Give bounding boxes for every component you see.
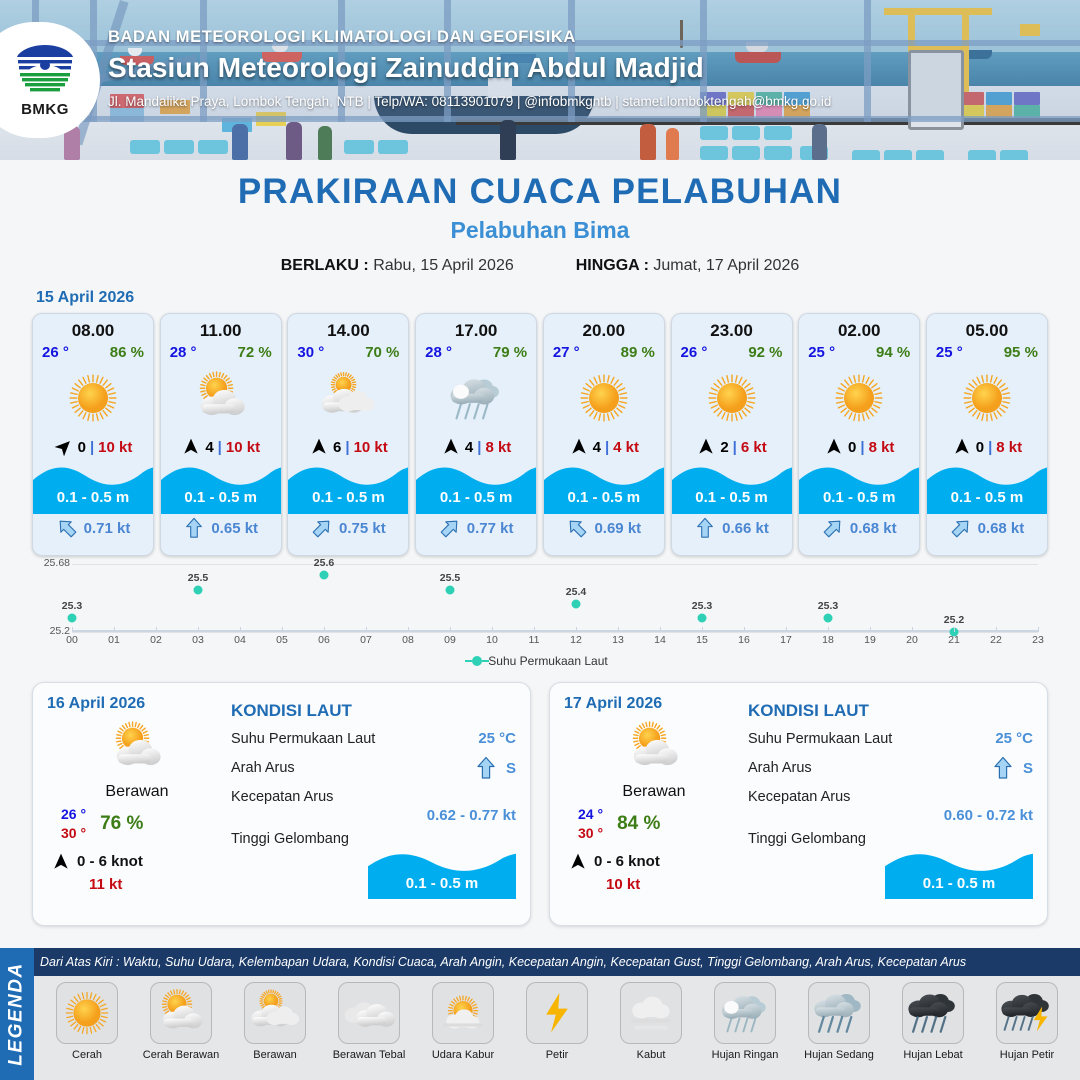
card-temperature: 26 ° [681, 344, 708, 361]
card-temperature: 26 ° [42, 344, 69, 361]
card-wind-speed: 4 kt [613, 439, 639, 456]
card-temperature: 27 ° [553, 344, 580, 361]
card-separator: | [733, 439, 737, 456]
card-wind-speed: 8 kt [996, 439, 1022, 456]
legend-cerah-icon [56, 982, 118, 1044]
daily-wind-range: 0 - 6 knot [594, 853, 660, 870]
legend-bar: LEGENDA Dari Atas Kiri : Waktu, Suhu Uda… [0, 948, 1080, 1080]
daily-wind-row: 0 - 6 knot [564, 852, 744, 872]
daily-temp-min: 24 ° [578, 805, 603, 824]
card-separator: | [605, 439, 609, 456]
chart-tick-mark [912, 627, 913, 632]
card-humidity: 95 % [1004, 344, 1038, 361]
chart-tick-mark [954, 627, 955, 632]
current-direction-value-group: S [474, 756, 516, 780]
legend-item: Berawan Tebal [322, 982, 416, 1080]
chart-x-tick: 15 [696, 634, 708, 646]
chart-legend-label: Suhu Permukaan Laut [488, 654, 607, 668]
chart-tick-mark [324, 627, 325, 632]
card-current-row: 0.66 kt [672, 517, 792, 539]
forecast-date-label: 15 April 2026 [36, 289, 1080, 307]
chart-tick-mark [828, 627, 829, 632]
legend-item: Petir [510, 982, 604, 1080]
forecast-card: 17.00 28 ° 79 % 4 | 8 [415, 313, 537, 556]
card-separator: | [345, 439, 349, 456]
card-wind-speed: 6 kt [741, 439, 767, 456]
sst-value: 25 °C [995, 730, 1033, 747]
card-wave-block: 0.1 - 0.5 m [288, 462, 408, 514]
card-wave-height: 0.1 - 0.5 m [161, 489, 281, 506]
chart-x-tick: 04 [234, 634, 246, 646]
card-current-row: 0.68 kt [799, 517, 919, 539]
card-temp-hum-row: 26 ° 86 % [33, 341, 153, 361]
legend-hujan-sedang-icon [808, 982, 870, 1044]
card-wave-height: 0.1 - 0.5 m [288, 489, 408, 506]
hourly-forecast-row: 08.00 26 ° 86 % 0 | 10 kt 0.1 - 0.5 m [0, 313, 1080, 556]
person-illustration [232, 124, 248, 160]
wave-height-label: Tinggi Gelombang [231, 831, 516, 847]
current-direction-value-group: S [991, 756, 1033, 780]
chart-tick-mark [492, 627, 493, 632]
daily-gust-speed: 10 kt [564, 876, 744, 893]
card-wave-block: 0.1 - 0.5 m [544, 462, 664, 514]
legend-item: Hujan Lebat [886, 982, 980, 1080]
sst-value: 25 °C [478, 730, 516, 747]
waiting-chair [700, 126, 728, 140]
chart-data-point [320, 571, 329, 580]
header-text-block: BADAN METEOROLOGI KLIMATOLOGI DAN GEOFIS… [108, 28, 831, 109]
chart-point-label: 25.5 [188, 572, 208, 584]
legend-item: Udara Kabur [416, 982, 510, 1080]
card-wind-speed: 8 kt [485, 439, 511, 456]
daily-forecast-row: 16 April 2026 Berawan 26 ° 30 ° 76 % [0, 682, 1080, 926]
daily-forecast-panel: 17 April 2026 Berawan 24 ° 30 ° 84 % [549, 682, 1048, 926]
wave-shape-icon [544, 462, 664, 514]
current-speed-value: 0.62 - 0.77 kt [231, 807, 516, 824]
current-direction-label: Arah Arus [748, 760, 812, 776]
forecast-card: 23.00 26 ° 92 % 2 | 6 kt 0.1 - 0.5 m [671, 313, 793, 556]
waiting-chair [198, 140, 228, 154]
card-wind-row: 4 | 10 kt [161, 437, 281, 457]
chart-x-tick: 13 [612, 634, 624, 646]
card-humidity: 89 % [621, 344, 655, 361]
legend-berawan-icon [244, 982, 306, 1044]
card-separator: | [860, 439, 864, 456]
waiting-chair [764, 146, 792, 160]
sst-label: Suhu Permukaan Laut [231, 731, 375, 747]
card-weather-cerah-icon [799, 363, 919, 433]
legend-udara-kabur-icon [432, 982, 494, 1044]
legend-item-label: Berawan [253, 1049, 296, 1061]
chart-x-tick: 07 [360, 634, 372, 646]
card-temp-hum-row: 28 ° 79 % [416, 341, 536, 361]
current-direction-arrow-icon [474, 756, 498, 780]
daily-wind-range: 0 - 6 knot [77, 853, 143, 870]
chart-tick-mark [156, 627, 157, 632]
card-weather-cerah-icon [544, 363, 664, 433]
card-weather-cerah-berawan-icon [161, 363, 281, 433]
sst-row: Suhu Permukaan Laut 25 °C [231, 730, 516, 747]
card-separator: | [90, 439, 94, 456]
chart-tick-mark [576, 627, 577, 632]
daily-weather-cerah-berawan-icon [564, 717, 744, 779]
card-wind-row: 0 | 10 kt [33, 437, 153, 457]
card-wind-speed: 10 kt [98, 439, 132, 456]
valid-until-label: HINGGA : [576, 257, 649, 274]
waiting-chair [732, 126, 760, 140]
card-temperature: 25 ° [808, 344, 835, 361]
daily-left-column: 16 April 2026 Berawan 26 ° 30 ° 76 % [47, 695, 227, 913]
chart-data-point [572, 599, 581, 608]
wind-direction-arrow-icon [696, 437, 716, 457]
legend-berawan-tebal-icon [338, 982, 400, 1044]
card-weather-hujan-ringan-icon [416, 363, 536, 433]
legend-items-row: Cerah Cerah Berawan [34, 976, 1080, 1080]
legend-item: Hujan Ringan [698, 982, 792, 1080]
waiting-chair [344, 140, 374, 154]
card-separator: | [218, 439, 222, 456]
current-direction-arrow-icon [311, 517, 333, 539]
chart-legend-marker-icon [472, 656, 482, 666]
card-weather-cerah-icon [33, 363, 153, 433]
card-wind-direction: 0 [848, 439, 856, 456]
current-direction-arrow-icon [439, 517, 461, 539]
daily-date: 17 April 2026 [564, 695, 744, 713]
card-weather-berawan-icon [288, 363, 408, 433]
card-wind-speed: 10 kt [354, 439, 388, 456]
daily-wind-row: 0 - 6 knot [47, 852, 227, 872]
forecast-card: 02.00 25 ° 94 % 0 | 8 kt 0.1 - 0.5 m [798, 313, 920, 556]
current-direction-arrow-icon [950, 517, 972, 539]
daily-temp-max: 30 ° [578, 824, 603, 843]
waiting-chair [130, 140, 160, 154]
wind-direction-arrow-icon [952, 437, 972, 457]
current-direction-arrow-icon [822, 517, 844, 539]
legend-hujan-lebat-icon [902, 982, 964, 1044]
card-time: 02.00 [799, 321, 919, 341]
current-speed-block: Kecepatan Arus 0.62 - 0.77 kt [231, 789, 516, 824]
chart-x-tick: 12 [570, 634, 582, 646]
card-temperature: 25 ° [936, 344, 963, 361]
wave-height-label: Tinggi Gelombang [748, 831, 1033, 847]
daily-condition: Berawan [564, 783, 744, 801]
card-wind-speed: 8 kt [869, 439, 895, 456]
bmkg-logo-mark [14, 43, 76, 99]
person-illustration [640, 124, 656, 160]
wave-shape-icon [799, 462, 919, 514]
forecast-card: 14.00 30 ° 70 % 6 | 1 [287, 313, 409, 556]
card-weather-cerah-icon [927, 363, 1047, 433]
chart-x-tick: 16 [738, 634, 750, 646]
chart-x-tick: 20 [906, 634, 918, 646]
card-wave-block: 0.1 - 0.5 m [33, 462, 153, 514]
chart-plot-area: 25.6825.225.325.525.625.525.425.325.325.… [72, 564, 1038, 632]
card-current-row: 0.77 kt [416, 517, 536, 539]
current-direction-arrow-icon [183, 517, 205, 539]
chart-tick-mark [870, 627, 871, 632]
chart-x-tick: 01 [108, 634, 120, 646]
forecast-card: 20.00 27 ° 89 % 4 | 4 kt 0.1 - 0.5 m [543, 313, 665, 556]
person-illustration [812, 124, 827, 160]
card-temperature: 30 ° [297, 344, 324, 361]
card-current-speed: 0.71 kt [84, 520, 131, 537]
card-wind-row: 0 | 8 kt [799, 437, 919, 457]
wind-direction-arrow-icon [824, 437, 844, 457]
legend-item-label: Cerah Berawan [143, 1049, 219, 1061]
wave-height-value: 0.1 - 0.5 m [368, 875, 516, 892]
waiting-chair [164, 140, 194, 154]
card-current-row: 0.75 kt [288, 517, 408, 539]
legend-item-label: Hujan Lebat [903, 1049, 962, 1061]
chart-tick-mark [744, 627, 745, 632]
current-direction-value: S [1023, 760, 1033, 777]
chart-data-point [698, 613, 707, 622]
waiting-chair [378, 140, 408, 154]
legend-item: Cerah Berawan [134, 982, 228, 1080]
card-temp-hum-row: 26 ° 92 % [672, 341, 792, 361]
card-humidity: 86 % [110, 344, 144, 361]
chart-tick-mark [114, 627, 115, 632]
legend-side-label: LEGENDA [6, 962, 28, 1065]
waiting-chair [884, 150, 912, 160]
chart-tick-mark [72, 627, 73, 632]
chart-tick-mark [534, 627, 535, 632]
legend-cerah-berawan-icon [150, 982, 212, 1044]
chart-point-label: 25.3 [62, 600, 82, 612]
daily-humidity: 84 % [617, 813, 660, 835]
bmkg-logo-label: BMKG [21, 101, 69, 118]
daily-temp-min: 26 ° [61, 805, 86, 824]
daily-temp-column: 26 ° 30 ° [61, 805, 86, 843]
chart-x-tick: 03 [192, 634, 204, 646]
wind-direction-arrow-icon [309, 437, 329, 457]
person-illustration [286, 122, 302, 160]
card-wave-height: 0.1 - 0.5 m [544, 489, 664, 506]
chart-y-tick: 25.2 [34, 625, 70, 637]
daily-gust-speed: 11 kt [47, 876, 227, 893]
chart-x-tick: 17 [780, 634, 792, 646]
chart-x-tick: 09 [444, 634, 456, 646]
card-time: 11.00 [161, 321, 281, 341]
card-wave-block: 0.1 - 0.5 m [416, 462, 536, 514]
card-temp-hum-row: 25 ° 95 % [927, 341, 1047, 361]
legend-hujan-petir-icon [996, 982, 1058, 1044]
chart-tick-mark [450, 627, 451, 632]
card-current-speed: 0.66 kt [722, 520, 769, 537]
waiting-chair [916, 150, 944, 160]
forecast-card: 05.00 25 ° 95 % 0 | 8 kt 0.1 - 0.5 m [926, 313, 1048, 556]
card-current-row: 0.65 kt [161, 517, 281, 539]
chart-data-point [446, 585, 455, 594]
card-humidity: 92 % [748, 344, 782, 361]
card-current-row: 0.68 kt [927, 517, 1047, 539]
current-direction-arrow-icon [56, 517, 78, 539]
chart-x-tick: 21 [948, 634, 960, 646]
valid-from: BERLAKU : Rabu, 15 April 2026 [281, 257, 514, 275]
card-current-speed: 0.65 kt [211, 520, 258, 537]
legend-item-label: Kabut [637, 1049, 666, 1061]
wind-direction-arrow-icon [51, 852, 71, 872]
wave-shape-icon [672, 462, 792, 514]
card-current-speed: 0.75 kt [339, 520, 386, 537]
daily-humidity: 76 % [100, 813, 143, 835]
card-wind-row: 4 | 8 kt [416, 437, 536, 457]
wave-shape-icon [288, 462, 408, 514]
card-wind-direction: 4 [593, 439, 601, 456]
page-header: BMKG BADAN METEOROLOGI KLIMATOLOGI DAN G… [0, 0, 1080, 160]
waiting-chair [764, 126, 792, 140]
title-block: PRAKIRAAN CUACA PELABUHAN Pelabuhan Bima… [0, 160, 1080, 275]
person-illustration [666, 128, 679, 160]
person-illustration [318, 126, 332, 160]
chart-legend: Suhu Permukaan Laut [36, 654, 1044, 668]
daily-forecast-panel: 16 April 2026 Berawan 26 ° 30 ° 76 % [32, 682, 531, 926]
card-wave-height: 0.1 - 0.5 m [672, 489, 792, 506]
chart-y-tick: 25.68 [34, 557, 70, 569]
wind-direction-arrow-icon [569, 437, 589, 457]
card-time: 05.00 [927, 321, 1047, 341]
waiting-chair [732, 146, 760, 160]
daily-temp-max: 30 ° [61, 824, 86, 843]
card-wave-height: 0.1 - 0.5 m [416, 489, 536, 506]
contact-line: Jl. Mandalika Praya, Lombok Tengah, NTB … [108, 94, 831, 109]
card-wind-direction: 2 [720, 439, 728, 456]
current-speed-block: Kecepatan Arus 0.60 - 0.72 kt [748, 789, 1033, 824]
forecast-card: 11.00 28 ° 72 % 4 | 10 kt [160, 313, 282, 556]
sea-conditions-title: KONDISI LAUT [748, 701, 1033, 721]
chart-tick-mark [282, 627, 283, 632]
legend-item: Hujan Sedang [792, 982, 886, 1080]
current-direction-row: Arah Arus S [231, 756, 516, 780]
chart-x-tick: 00 [66, 634, 78, 646]
card-wind-row: 4 | 4 kt [544, 437, 664, 457]
card-wind-direction: 4 [465, 439, 473, 456]
legend-note: Dari Atas Kiri : Waktu, Suhu Udara, Kele… [40, 955, 966, 969]
chart-x-tick: 08 [402, 634, 414, 646]
page-subtitle: Pelabuhan Bima [0, 217, 1080, 244]
chart-tick-mark [198, 627, 199, 632]
daily-temp-hum-row: 26 ° 30 ° 76 % [47, 805, 227, 843]
daily-sea-column: KONDISI LAUT Suhu Permukaan Laut 25 °C A… [227, 695, 516, 913]
waiting-chair [700, 146, 728, 160]
card-time: 23.00 [672, 321, 792, 341]
legend-item: Kabut [604, 982, 698, 1080]
card-current-row: 0.71 kt [33, 517, 153, 539]
chart-x-tick: 19 [864, 634, 876, 646]
card-current-speed: 0.68 kt [978, 520, 1025, 537]
waiting-chair [968, 150, 996, 160]
card-time: 20.00 [544, 321, 664, 341]
wind-direction-arrow-icon [441, 437, 461, 457]
wave-shape-icon: 0.1 - 0.5 m [368, 849, 516, 899]
legend-item: Hujan Petir [980, 982, 1074, 1080]
chart-x-tick: 02 [150, 634, 162, 646]
validity-row: BERLAKU : Rabu, 15 April 2026 HINGGA : J… [0, 257, 1080, 275]
wave-height-value: 0.1 - 0.5 m [885, 875, 1033, 892]
daily-date: 16 April 2026 [47, 695, 227, 713]
valid-from-value: Rabu, 15 April 2026 [373, 257, 514, 274]
card-humidity: 72 % [238, 344, 272, 361]
chart-tick-mark [366, 627, 367, 632]
card-wind-speed: 10 kt [226, 439, 260, 456]
current-direction-row: Arah Arus S [748, 756, 1033, 780]
chart-tick-mark [1038, 627, 1039, 632]
current-direction-arrow-icon [991, 756, 1015, 780]
legend-item-label: Hujan Petir [1000, 1049, 1054, 1061]
current-speed-value: 0.60 - 0.72 kt [748, 807, 1033, 824]
station-name: Stasiun Meteorologi Zainuddin Abdul Madj… [108, 52, 831, 84]
daily-sea-column: KONDISI LAUT Suhu Permukaan Laut 25 °C A… [744, 695, 1033, 913]
daily-temp-hum-row: 24 ° 30 ° 84 % [564, 805, 744, 843]
chart-x-tick: 14 [654, 634, 666, 646]
card-temp-hum-row: 25 ° 94 % [799, 341, 919, 361]
valid-from-label: BERLAKU : [281, 257, 369, 274]
valid-until-value: Jumat, 17 April 2026 [653, 257, 799, 274]
chart-tick-mark [786, 627, 787, 632]
daily-weather-cerah-berawan-icon [47, 717, 227, 779]
waiting-chair [1000, 150, 1028, 160]
chart-point-label: 25.4 [566, 586, 586, 598]
legend-kabut-icon [620, 982, 682, 1044]
chart-x-tick: 10 [486, 634, 498, 646]
card-wind-direction: 4 [205, 439, 213, 456]
chart-x-tick: 23 [1032, 634, 1044, 646]
card-current-speed: 0.69 kt [594, 520, 641, 537]
current-direction-arrow-icon [566, 517, 588, 539]
chart-point-label: 25.6 [314, 557, 334, 569]
card-separator: | [477, 439, 481, 456]
current-speed-label: Kecepatan Arus [231, 789, 516, 805]
card-wind-row: 0 | 8 kt [927, 437, 1047, 457]
forecast-card: 08.00 26 ° 86 % 0 | 10 kt 0.1 - 0.5 m [32, 313, 154, 556]
legend-item: Cerah [40, 982, 134, 1080]
chart-data-point [68, 613, 77, 622]
card-time: 17.00 [416, 321, 536, 341]
chart-tick-mark [408, 627, 409, 632]
chart-tick-mark [996, 627, 997, 632]
card-current-row: 0.69 kt [544, 517, 664, 539]
card-temp-hum-row: 27 ° 89 % [544, 341, 664, 361]
sea-conditions-title: KONDISI LAUT [231, 701, 516, 721]
sst-chart: 25.6825.225.325.525.625.525.425.325.325.… [36, 564, 1044, 676]
card-wave-block: 0.1 - 0.5 m [161, 462, 281, 514]
wave-shape-icon: 0.1 - 0.5 m [885, 849, 1033, 899]
card-separator: | [988, 439, 992, 456]
agency-name: BADAN METEOROLOGI KLIMATOLOGI DAN GEOFIS… [108, 28, 831, 47]
chart-x-axis: 0001020304050607080910111213141516171819… [72, 632, 1038, 650]
card-wave-height: 0.1 - 0.5 m [927, 489, 1047, 506]
card-temp-hum-row: 30 ° 70 % [288, 341, 408, 361]
card-wave-block: 0.1 - 0.5 m [927, 462, 1047, 514]
daily-condition: Berawan [47, 783, 227, 801]
card-current-speed: 0.77 kt [467, 520, 514, 537]
chart-point-label: 25.2 [944, 614, 964, 626]
card-wave-block: 0.1 - 0.5 m [672, 462, 792, 514]
current-speed-label: Kecepatan Arus [748, 789, 1033, 805]
legend-item-label: Petir [546, 1049, 569, 1061]
legend-item-label: Berawan Tebal [333, 1049, 406, 1061]
card-time: 08.00 [33, 321, 153, 341]
chart-x-tick: 22 [990, 634, 1002, 646]
chart-x-tick: 18 [822, 634, 834, 646]
chart-x-tick: 05 [276, 634, 288, 646]
card-wave-height: 0.1 - 0.5 m [33, 489, 153, 506]
current-direction-value: S [506, 760, 516, 777]
legend-item: Berawan [228, 982, 322, 1080]
card-wind-direction: 0 [78, 439, 86, 456]
chart-data-point [824, 613, 833, 622]
sst-label: Suhu Permukaan Laut [748, 731, 892, 747]
